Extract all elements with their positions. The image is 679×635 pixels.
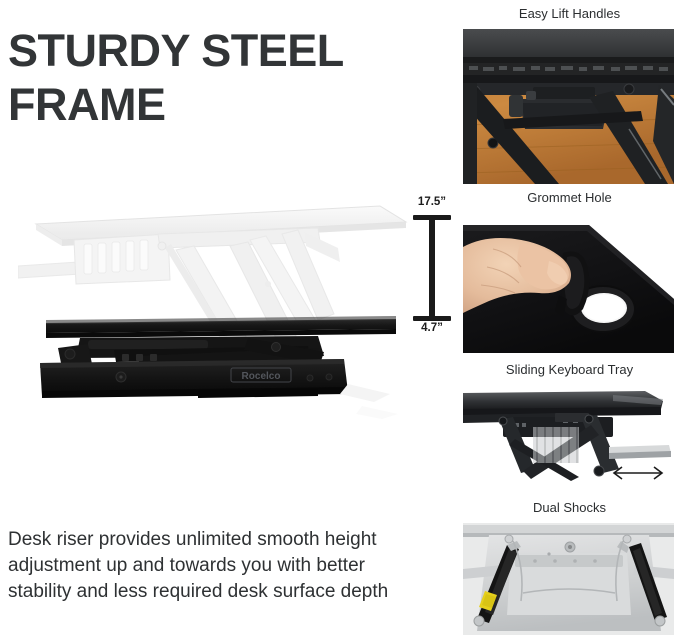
max-height-label: 17.5” [402, 196, 462, 208]
height-dimension-indicator: 17.5” 4.7” [400, 196, 460, 342]
feature-caption-sliding-keyboard-tray: Sliding Keyboard Tray [460, 362, 679, 378]
feature-panel-grommet-hole: Grommet Hole [460, 190, 679, 353]
feature-caption-grommet-hole: Grommet Hole [460, 190, 679, 206]
dual-shocks-photo [463, 523, 674, 635]
product-description: Desk riser provides unlimited smooth hei… [8, 527, 408, 605]
lowered-riser: Rocelco [40, 316, 396, 398]
left-column: STURDY STEEL FRAME [0, 0, 460, 635]
dimension-stem [429, 218, 435, 318]
dimension-cap-bottom [413, 316, 451, 321]
feature-panel-dual-shocks: Dual Shocks [460, 500, 679, 635]
feature-panel-easy-lift-handles: Easy Lift Handles [460, 6, 679, 184]
product-illustration: Rocelco [18, 188, 410, 420]
feature-caption-dual-shocks: Dual Shocks [460, 500, 679, 516]
page-title: STURDY STEEL FRAME [8, 24, 448, 132]
brand-badge-label: Rocelco [242, 371, 281, 382]
feature-panel-sliding-keyboard-tray: Sliding Keyboard Tray [460, 362, 679, 490]
min-height-label: 4.7” [402, 322, 462, 334]
sliding-tray-photo [463, 385, 674, 490]
feature-panel-column: Easy Lift Handles [460, 0, 679, 635]
feature-caption-easy-lift-handles: Easy Lift Handles [460, 6, 679, 22]
lift-handle-photo [463, 29, 674, 184]
grommet-hole-photo [463, 213, 674, 353]
